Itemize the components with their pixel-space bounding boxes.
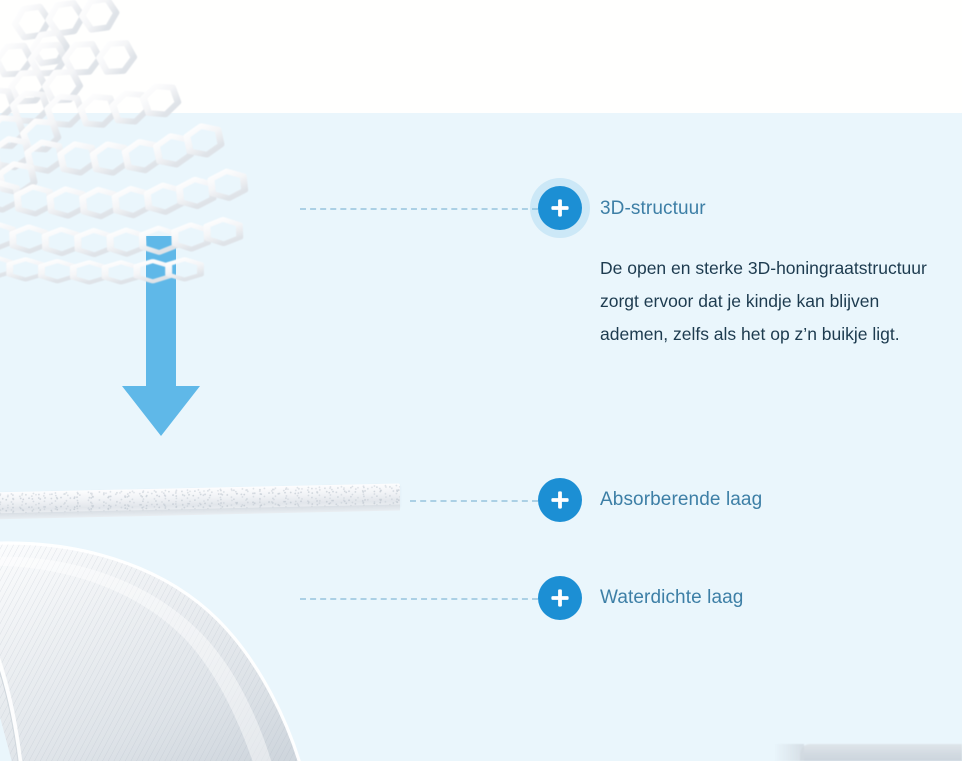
callout-title-waterdichte-laag[interactable]: Waterdichte laag — [600, 587, 743, 609]
waterproof-sheet-graphic — [0, 528, 360, 761]
callout-title-absorberende-laag[interactable]: Absorberende laag — [600, 489, 762, 511]
absorbent-fleece-graphic — [0, 484, 400, 518]
plus-icon — [549, 489, 571, 511]
plus-icon — [549, 197, 571, 219]
callout-body-3d-structuur: De open en sterke 3D-honingraatstructuur… — [600, 252, 952, 351]
bottom-right-panel — [800, 744, 962, 761]
honeycomb-lattice-graphic — [0, 0, 302, 316]
leader-line-3d-structuur — [300, 208, 538, 209]
leader-line-absorberende-laag — [410, 500, 538, 501]
leader-line-waterdichte-laag — [300, 598, 538, 599]
callout-title-3d-structuur[interactable]: 3D-structuur — [600, 198, 706, 220]
plus-circle-icon-absorberende-laag[interactable] — [538, 478, 582, 522]
plus-icon — [549, 587, 571, 609]
plus-circle-icon-3d-structuur[interactable] — [538, 186, 582, 230]
plus-circle-icon-waterdichte-laag[interactable] — [538, 576, 582, 620]
product-layers-infographic: 3D-structuur De open en sterke 3D-honing… — [0, 0, 962, 761]
